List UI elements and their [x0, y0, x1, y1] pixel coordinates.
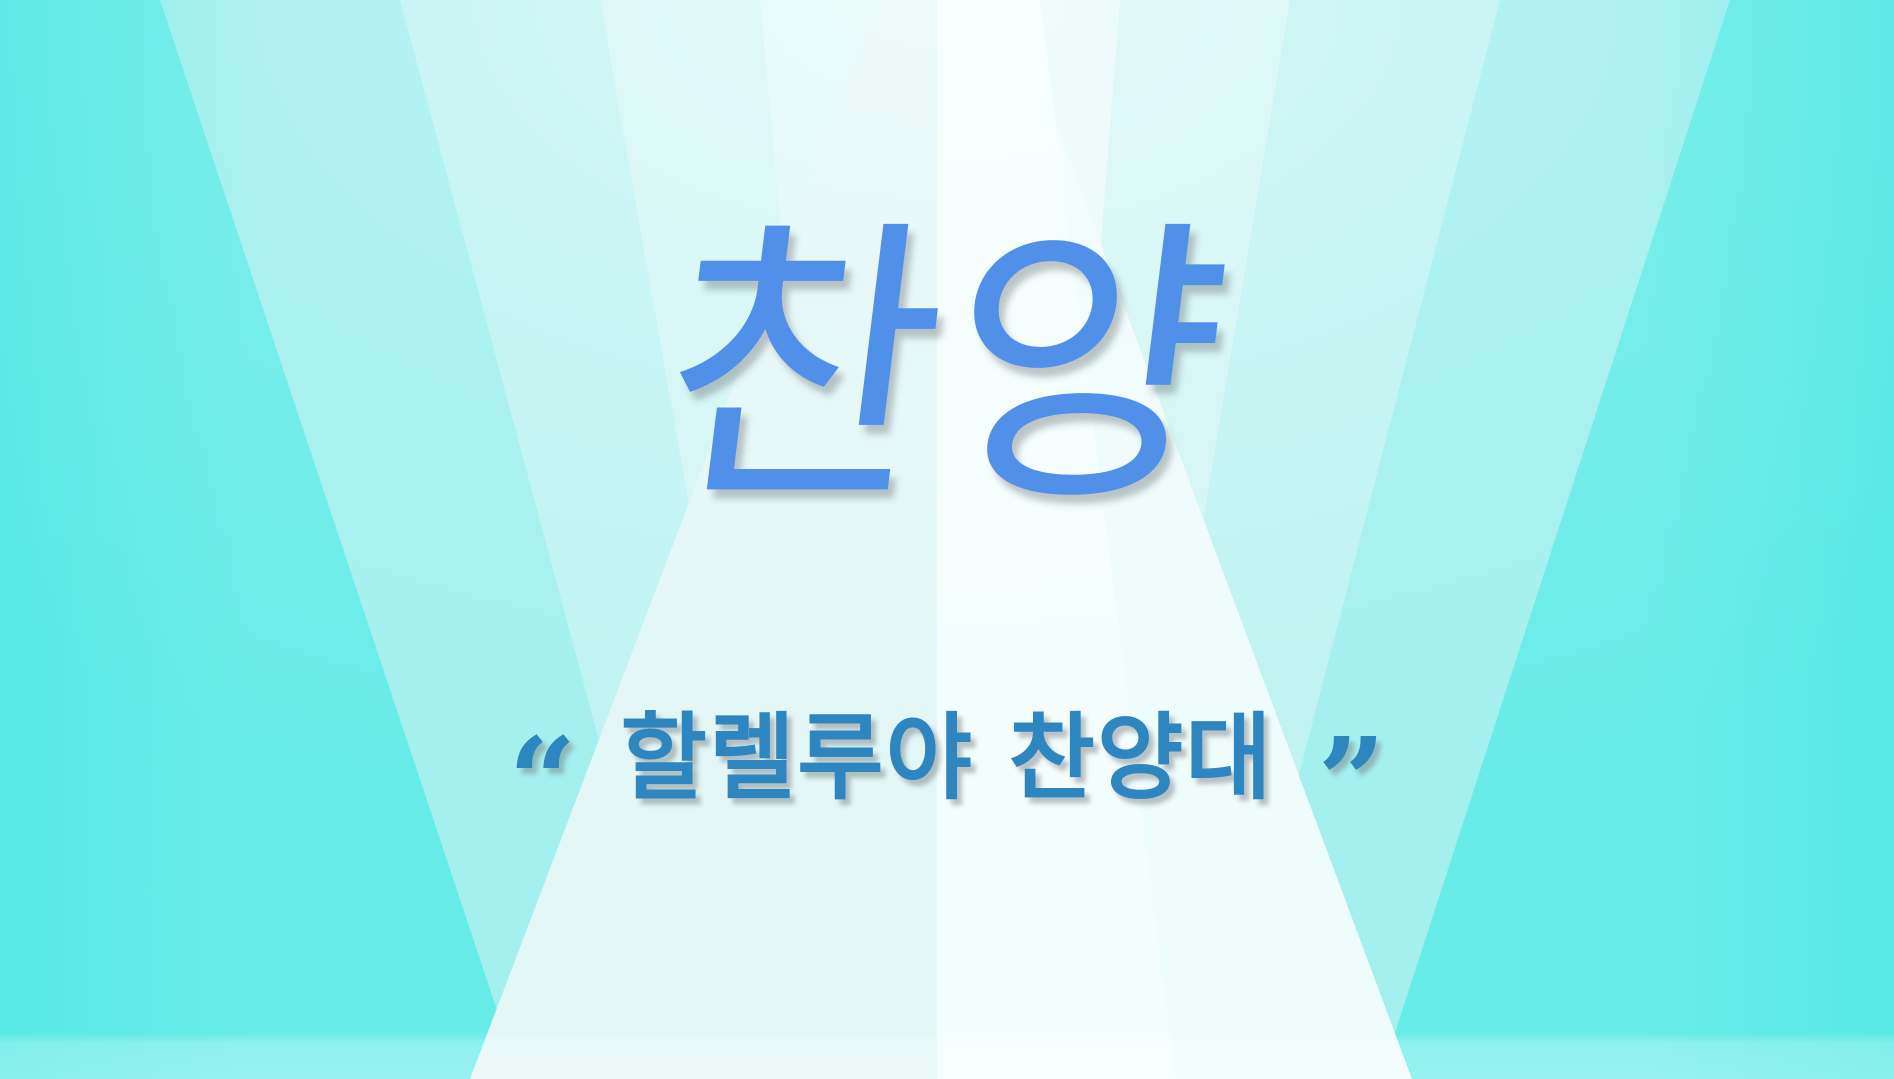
open-quote-icon: “	[509, 722, 577, 840]
slide-canvas: 찬양 “ 할렐루야 찬양대 ”	[0, 0, 1894, 1079]
subtitle-group: “ 할렐루야 찬양대 ”	[0, 700, 1894, 818]
page-title: 찬양	[0, 196, 1894, 541]
subtitle: 할렐루야 찬양대	[620, 712, 1273, 806]
slide-content: 찬양 “ 할렐루야 찬양대 ”	[0, 0, 1894, 1079]
close-quote-icon: ”	[1318, 722, 1386, 840]
